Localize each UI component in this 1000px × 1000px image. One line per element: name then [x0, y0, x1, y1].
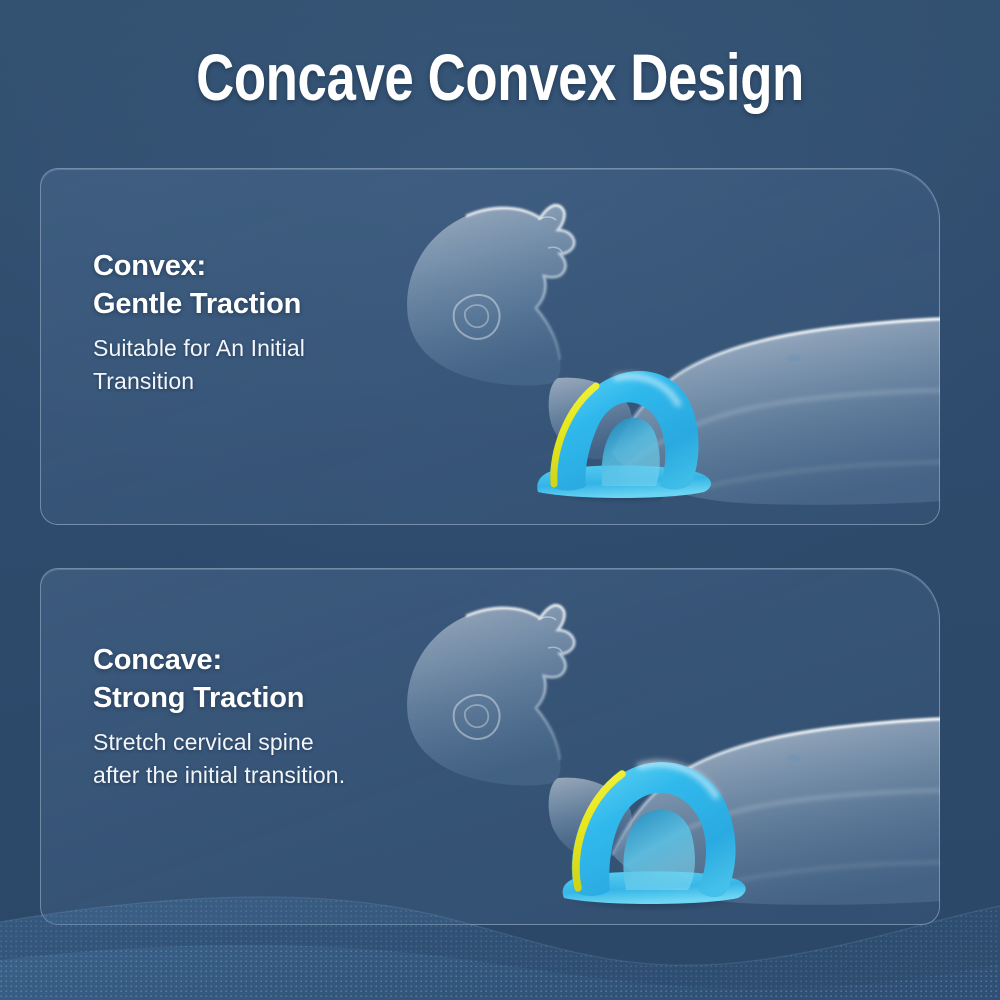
- card-convex-heading-line1: Convex:: [93, 247, 423, 285]
- figure-brow: [538, 217, 556, 220]
- figure-head: [407, 205, 574, 385]
- figure-brow: [538, 617, 556, 620]
- wave-layer-front: [0, 945, 1000, 1000]
- figure-head: [407, 605, 574, 785]
- figure-nostril: [548, 647, 562, 652]
- pillow-base: [563, 871, 746, 904]
- figure-face-rim: [466, 605, 574, 760]
- product-convex-neck-pillow: [520, 346, 730, 506]
- card-concave-text: Concave: Strong Traction Stretch cervica…: [93, 641, 423, 792]
- pillow-base: [537, 465, 711, 498]
- pillow-notch: [623, 810, 695, 890]
- figure-neck: [549, 778, 632, 859]
- card-convex-desc-line2: Transition: [93, 365, 423, 398]
- pillow-highlight: [640, 764, 716, 796]
- figure-chest-detail: [787, 755, 801, 761]
- figure-ear-outline: [454, 295, 500, 339]
- figure-ear-inner: [465, 305, 488, 327]
- infographic-page: Concave Convex Design: [0, 0, 1000, 1000]
- pillow-highlight: [616, 376, 678, 404]
- figure-torso-fill: [612, 318, 940, 505]
- figure-arm-line: [662, 862, 940, 898]
- card-convex-heading-line2: Gentle Traction: [93, 285, 423, 323]
- pillow-yellow-stripe: [554, 386, 596, 484]
- figure-pec-line: [624, 790, 940, 868]
- figure-svg-convex: [362, 168, 940, 525]
- illustration-supine-figure-concave: [362, 568, 940, 925]
- figure-shoulder-rim: [612, 718, 940, 854]
- figure-ear-outline: [454, 695, 500, 739]
- pillow-svg-concave: [538, 740, 763, 915]
- pillow-body: [572, 762, 736, 897]
- figure-pec-line: [624, 390, 940, 468]
- figure-shoulder-rim: [612, 318, 940, 454]
- illustration-supine-figure-convex: [362, 168, 940, 525]
- product-concave-neck-pillow: [538, 740, 763, 915]
- card-concave-desc-line2: after the initial transition.: [93, 759, 423, 792]
- figure-nostril: [548, 247, 562, 252]
- card-concave-desc-line1: Stretch cervical spine: [93, 726, 423, 759]
- figure-svg-concave: [362, 568, 940, 925]
- pillow-body: [550, 371, 699, 491]
- figure-ear-inner: [465, 705, 488, 727]
- figure-torso-fill: [612, 718, 940, 905]
- card-concave: Concave: Strong Traction Stretch cervica…: [40, 568, 940, 925]
- card-convex-desc-line1: Suitable for An Initial: [93, 332, 423, 365]
- page-title: Concave Convex Design: [100, 42, 900, 112]
- figure-chest-detail: [787, 355, 801, 361]
- card-convex-text: Convex: Gentle Traction Suitable for An …: [93, 247, 423, 398]
- figure-arm-line: [662, 462, 940, 498]
- pillow-contact-shadow: [547, 482, 703, 504]
- card-concave-heading-line2: Strong Traction: [93, 679, 423, 717]
- pillow-notch: [602, 418, 660, 486]
- pillow-yellow-stripe: [576, 774, 622, 888]
- card-convex: Convex: Gentle Traction Suitable for An …: [40, 168, 940, 525]
- figure-neck: [549, 378, 632, 459]
- figure-face-rim: [466, 205, 574, 360]
- pillow-svg-convex: [520, 346, 730, 506]
- card-concave-heading-line1: Concave:: [93, 641, 423, 679]
- pillow-contact-shadow: [566, 888, 738, 912]
